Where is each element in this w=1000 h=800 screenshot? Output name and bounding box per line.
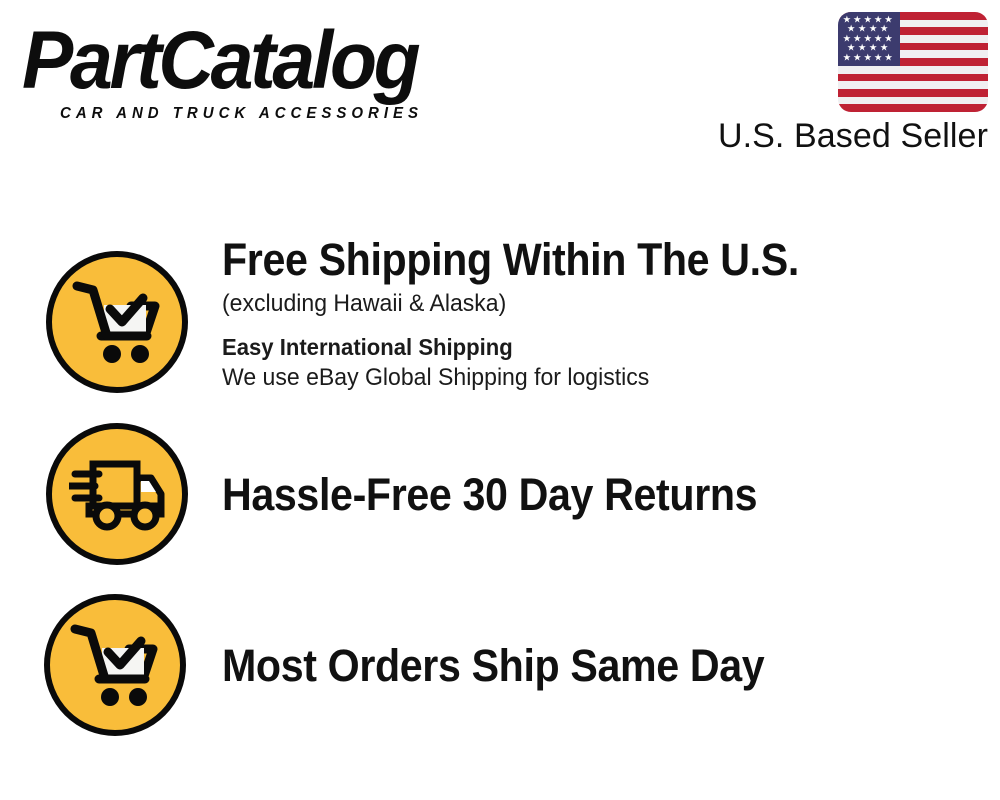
shopping-cart-check-icon xyxy=(46,251,188,393)
flag-star-icon: ★ xyxy=(884,53,893,63)
us-flag-icon: ★★★★★★★★★★★★★★★★★★★★★★★ xyxy=(838,12,988,112)
benefit-text-block: Free Shipping Within The U.S. (excluding… xyxy=(222,236,982,393)
flag-star-icon: ★ xyxy=(863,53,872,63)
flag-star-icon: ★ xyxy=(853,53,862,63)
benefit-headline: Hassle-Free 30 Day Returns xyxy=(222,471,917,518)
benefit-subtext: We use eBay Global Shipping for logistic… xyxy=(222,363,952,393)
benefit-headline: Free Shipping Within The U.S. xyxy=(222,236,917,283)
shopping-cart-check-icon xyxy=(44,594,186,736)
flag-stripe xyxy=(838,81,988,89)
brand-tagline: CAR AND TRUCK ACCESSORIES xyxy=(60,106,423,122)
us-based-seller-label: U.S. Based Seller xyxy=(718,117,988,155)
brand-wordmark: PartCatalog xyxy=(22,20,417,101)
flag-stripe xyxy=(838,66,988,74)
flag-canton: ★★★★★★★★★★★★★★★★★★★★★★★ xyxy=(838,12,900,66)
benefit-text-block: Hassle-Free 30 Day Returns xyxy=(222,471,982,518)
flag-stripe xyxy=(838,97,988,105)
flag-stripe xyxy=(838,104,988,112)
flag-stripe xyxy=(838,74,988,82)
flag-stripe xyxy=(838,89,988,97)
flag-star-icon: ★ xyxy=(843,53,852,63)
brand-logo[interactable]: PartCatalog CAR AND TRUCK ACCESSORIES xyxy=(22,20,492,120)
flag-star-icon: ★ xyxy=(874,53,883,63)
benefit-headline: Most Orders Ship Same Day xyxy=(222,642,917,689)
delivery-truck-icon xyxy=(46,423,188,565)
benefit-text-block: Most Orders Ship Same Day xyxy=(222,642,982,689)
benefit-subtitle: Easy International Shipping xyxy=(222,332,952,362)
benefit-note: (excluding Hawaii & Alaska) xyxy=(222,289,952,319)
